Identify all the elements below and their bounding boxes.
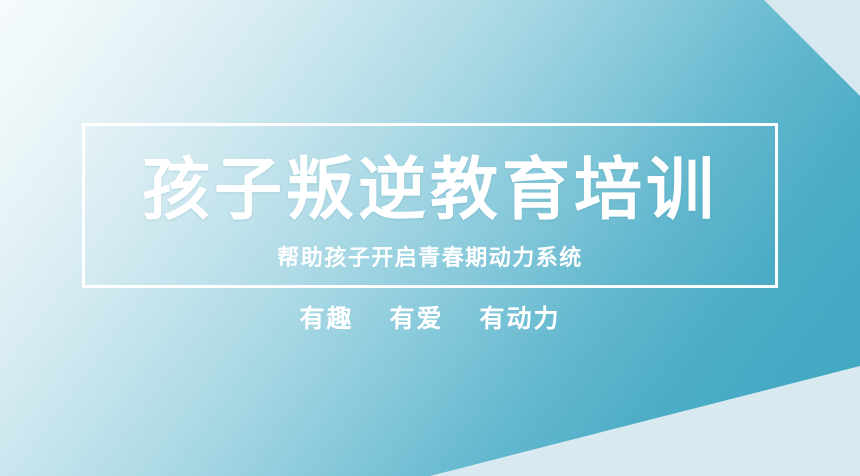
- tagline-word-2: 有爱: [389, 302, 443, 336]
- banner-subheadline: 帮助孩子开启青春期动力系统: [0, 243, 860, 273]
- tagline-word-3: 有动力: [480, 302, 561, 336]
- banner-headline: 孩子叛逆教育培训: [0, 150, 860, 230]
- banner-tagline: 有趣有爱有动力: [0, 302, 860, 336]
- promo-banner: 孩子叛逆教育培训 帮助孩子开启青春期动力系统 有趣有爱有动力: [0, 0, 860, 476]
- banner-text-stack: 孩子叛逆教育培训 帮助孩子开启青春期动力系统 有趣有爱有动力: [0, 0, 860, 476]
- tagline-word-1: 有趣: [299, 302, 353, 336]
